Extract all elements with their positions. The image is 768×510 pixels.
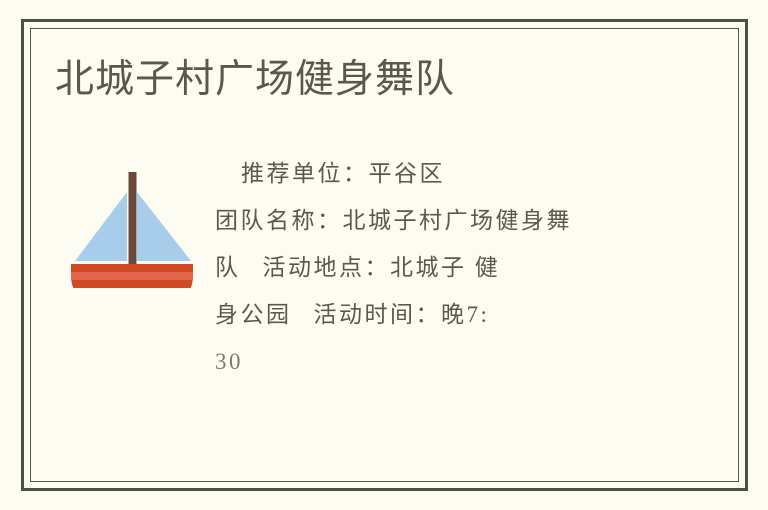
detail-line-recommender: 推荐单位：平谷区 (241, 161, 445, 186)
content-area: 推荐单位：平谷区 团队名称：北城子村广场健身舞 队活动地点：北城子 健 身公园活… (55, 150, 715, 385)
detail-line-time: 活动时间：晚7: (314, 302, 490, 327)
team-details-text: 推荐单位：平谷区 团队名称：北城子村广场健身舞 队活动地点：北城子 健 身公园活… (205, 150, 635, 385)
detail-line-location-cont: 身公园 (215, 302, 292, 327)
illustration-container (55, 150, 205, 293)
page-title: 北城子村广场健身舞队 (55, 58, 455, 103)
detail-line-team-name-cont: 队 (215, 255, 241, 280)
detail-line-time-cont: 30 (215, 349, 243, 374)
sailboat-icon (65, 158, 195, 293)
detail-line-location: 活动地点：北城子 健 (263, 255, 501, 280)
detail-line-team-name: 团队名称：北城子村广场健身舞 (215, 208, 572, 233)
poster-card: 北城子村广场健身舞队 推荐单位：平谷区 团队名称： (0, 0, 768, 510)
